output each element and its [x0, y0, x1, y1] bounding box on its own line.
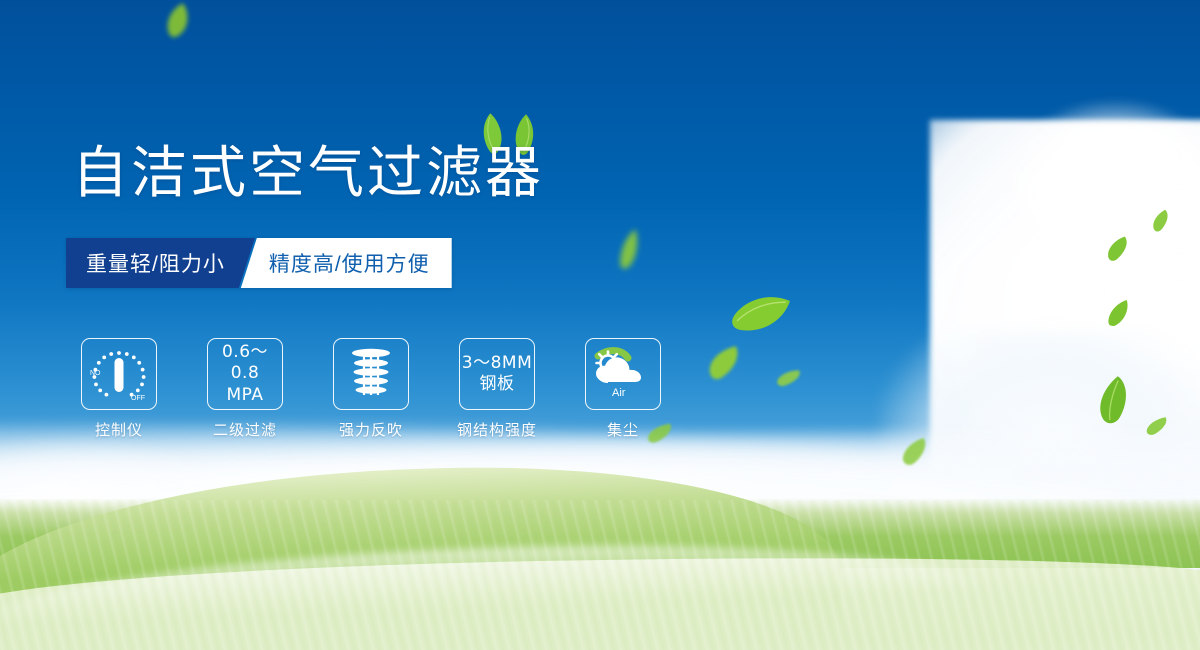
control-dial-box: NO OFF — [81, 338, 157, 410]
cloud-air-caption: Air — [612, 387, 626, 399]
dial-on-label: NO — [90, 370, 101, 377]
cloud-air-icon: Air — [592, 346, 654, 402]
cloud-right-puff-edge — [1090, 150, 1200, 320]
steel-plate-text-icon: 3～8MM 钢板 — [462, 353, 532, 396]
feature-label: 二级过滤 — [213, 419, 277, 440]
grass-texture — [0, 500, 1200, 650]
cloud-air-box: Air — [585, 338, 661, 410]
subtitle-banner: 重量轻/阻力小 精度高/使用方便 — [66, 238, 452, 288]
pressure-text-box: 0.6～0.8 MPA — [207, 338, 283, 410]
feature-item-control-instrument[interactable]: NO OFF 控制仪 — [76, 338, 162, 440]
pressure-unit: MPA — [208, 385, 282, 406]
pressure-value: 0.6～0.8 — [222, 342, 268, 383]
leaf-icon — [154, 0, 200, 44]
leaf-icon — [726, 276, 797, 350]
feature-list: NO OFF 控制仪 0.6～0.8 MPA 二级过滤 — [76, 338, 666, 440]
control-dial-icon: NO OFF — [87, 344, 151, 404]
steel-thickness: 3～8MM — [462, 353, 532, 373]
leaf-icon — [702, 343, 746, 383]
feature-label: 集尘 — [607, 419, 639, 440]
feature-label: 强力反吹 — [339, 419, 403, 440]
filter-coil-box — [333, 338, 409, 410]
hero-banner: 自洁式空气过滤器 重量轻/阻力小 精度高/使用方便 — [0, 0, 1200, 650]
feature-item-secondary-filtration[interactable]: 0.6～0.8 MPA 二级过滤 — [202, 338, 288, 440]
feature-label: 控制仪 — [95, 419, 143, 440]
pressure-text-icon: 0.6～0.8 MPA — [208, 342, 282, 406]
leaf-icon — [615, 223, 644, 276]
steel-plate-text-box: 3～8MM 钢板 — [459, 338, 535, 410]
subtitle-right-text: 精度高/使用方便 — [241, 238, 452, 288]
leaf-icon — [775, 368, 803, 387]
feature-item-steel-strength[interactable]: 3～8MM 钢板 钢结构强度 — [454, 338, 540, 440]
feature-label: 钢结构强度 — [457, 419, 537, 440]
page-title: 自洁式空气过滤器 — [72, 142, 544, 206]
feature-item-dust-collection[interactable]: Air 集尘 — [580, 338, 666, 440]
dial-off-label: OFF — [131, 395, 145, 402]
feature-item-strong-backblow[interactable]: 强力反吹 — [328, 338, 414, 440]
subtitle-left-text: 重量轻/阻力小 — [66, 238, 255, 288]
filter-coil-icon — [345, 346, 397, 402]
steel-material: 钢板 — [462, 374, 532, 395]
